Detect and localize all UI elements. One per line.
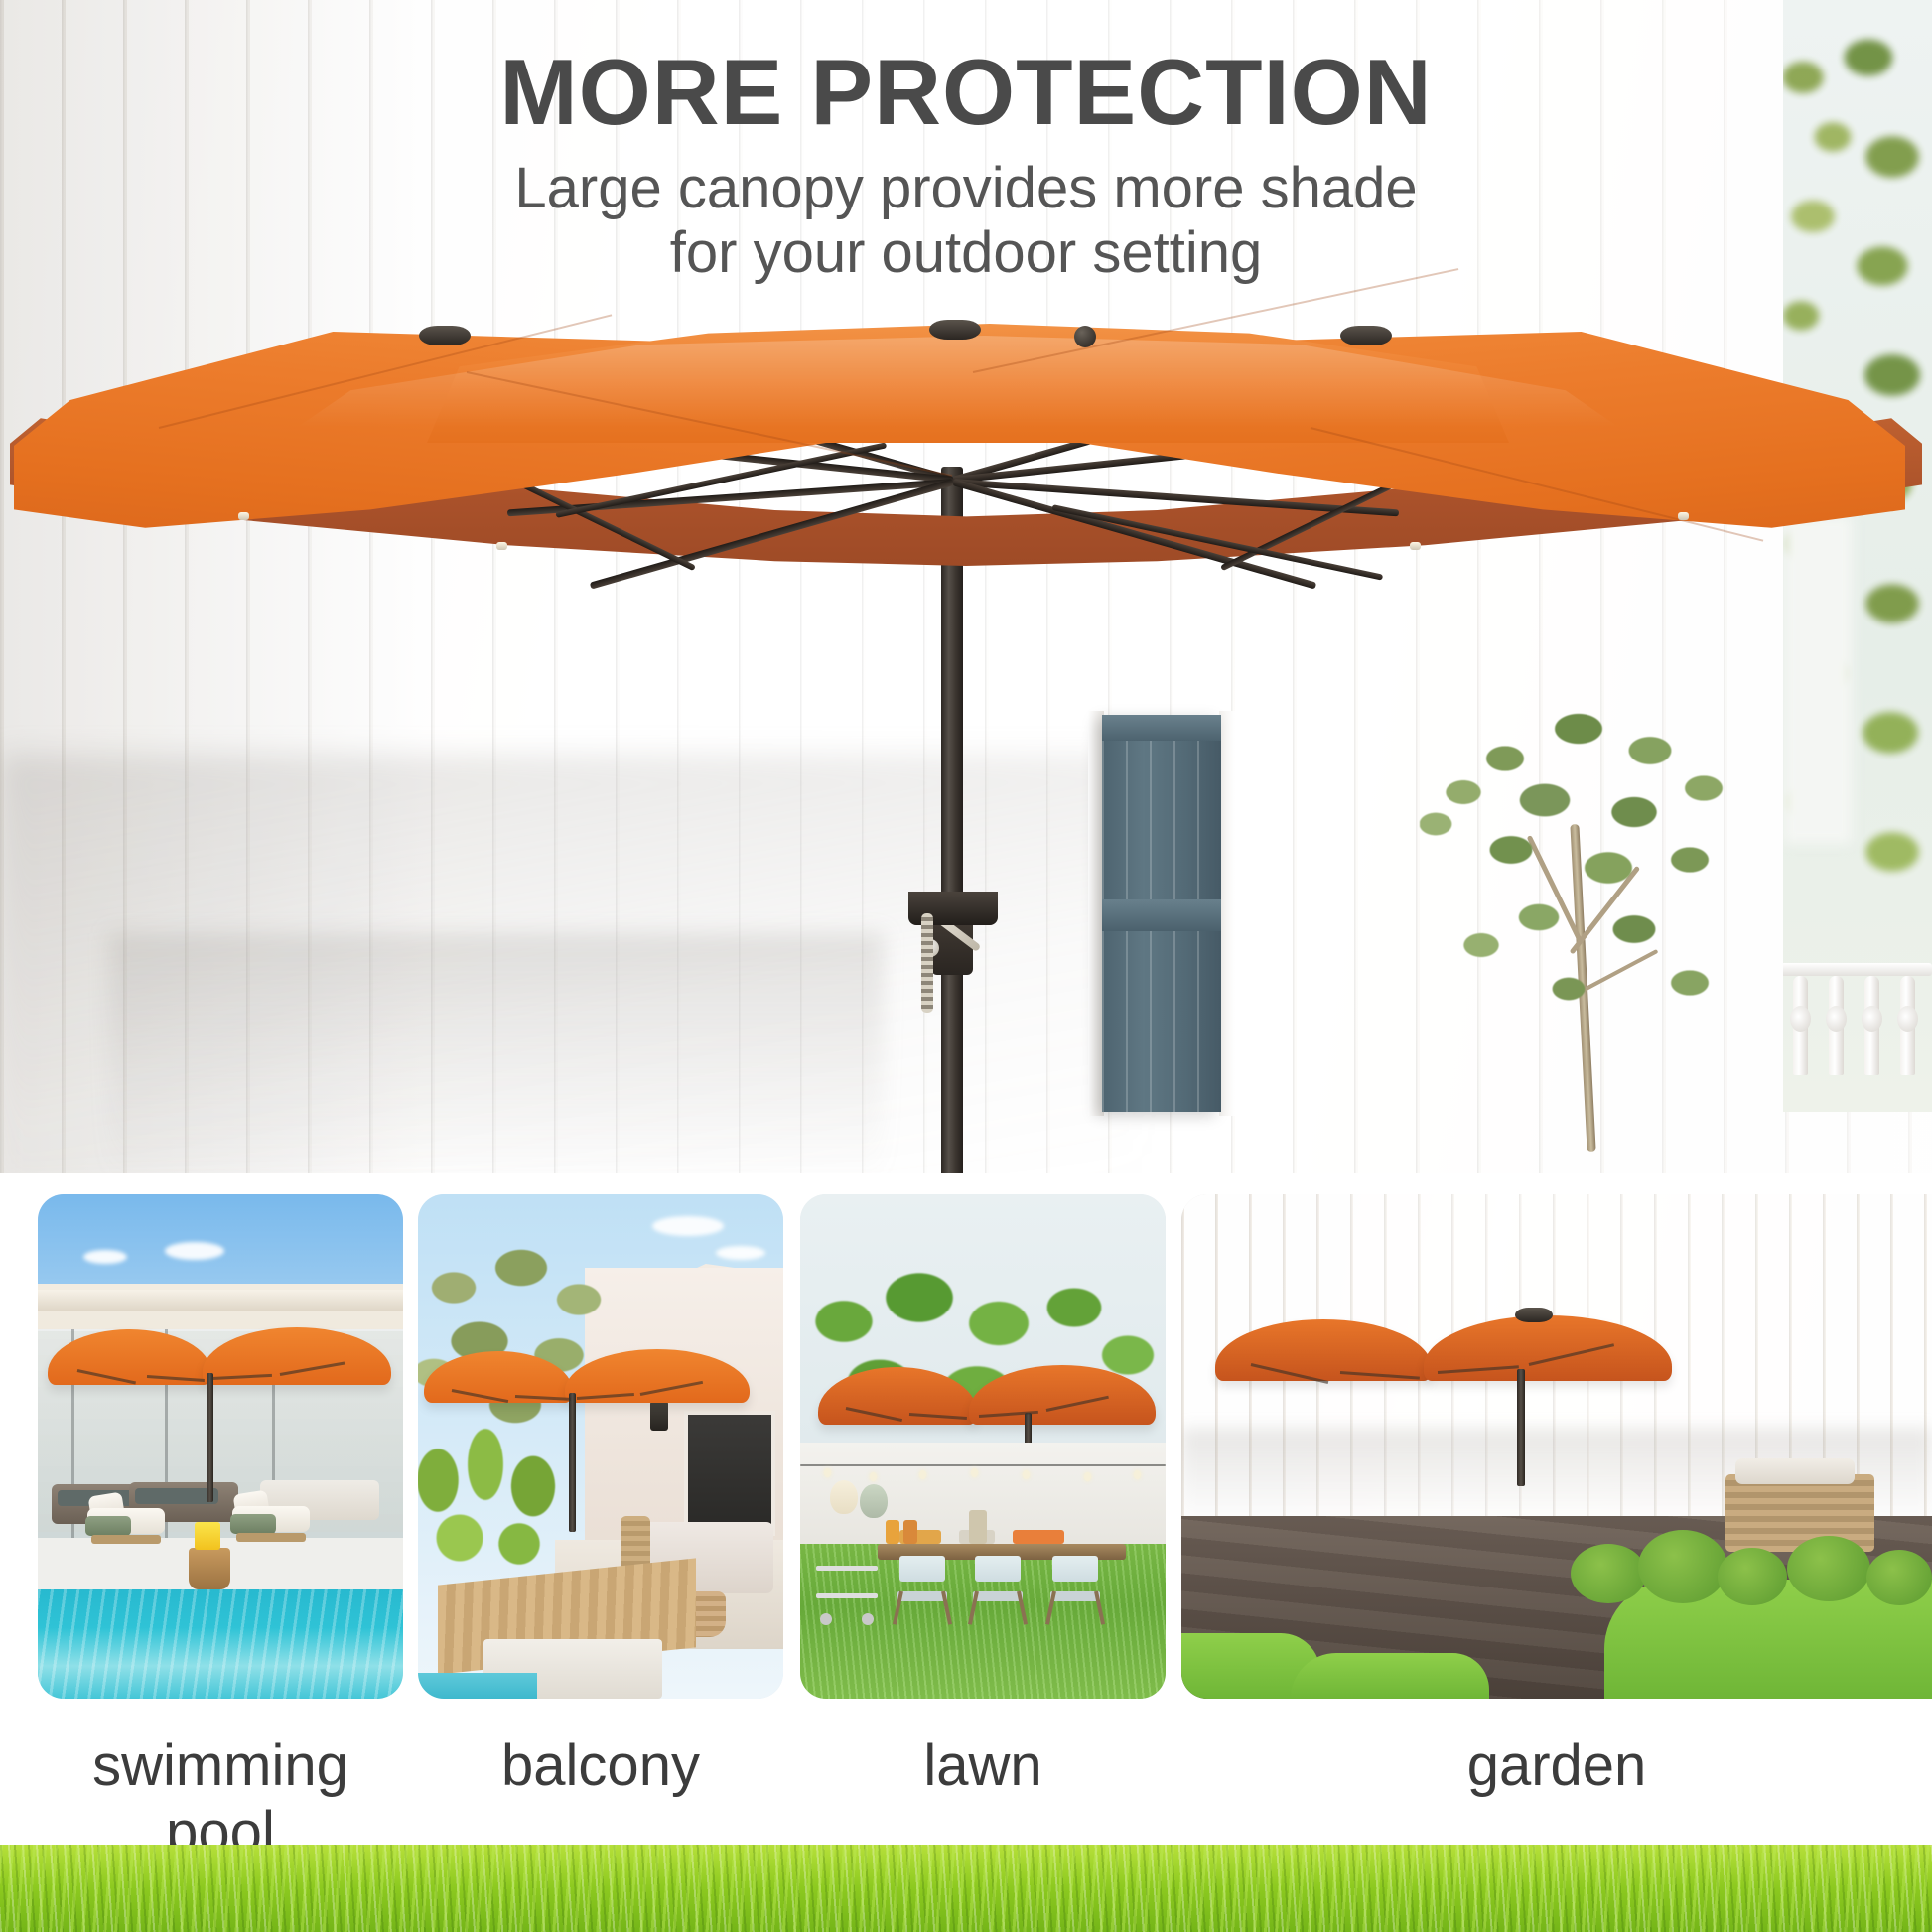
string-light-bulb <box>1084 1472 1091 1481</box>
cart-shelf <box>816 1566 878 1571</box>
footer-grass-band <box>0 1845 1932 1932</box>
shrub <box>1718 1548 1787 1605</box>
lounger-throw <box>230 1514 276 1534</box>
chair-back <box>899 1556 945 1582</box>
subtitle-line-2: for your outdoor setting <box>0 221 1932 286</box>
balloon <box>860 1484 888 1518</box>
cloud <box>165 1242 224 1260</box>
umbrella <box>0 318 1932 635</box>
string-light-bulb <box>824 1468 831 1477</box>
led-light <box>496 542 507 550</box>
swimming-pool-water <box>38 1589 403 1699</box>
canopy-finial <box>1074 326 1096 347</box>
page-title: MORE PROTECTION <box>0 46 1932 139</box>
gallery-labels: swimming pool balcony lawn garden <box>0 1732 1932 1842</box>
shrub <box>1787 1536 1870 1601</box>
shutter-top-rail <box>1102 715 1221 741</box>
string-light-bulb <box>870 1472 877 1481</box>
bar-cart <box>816 1560 878 1625</box>
cloud <box>652 1216 724 1236</box>
string-light-bulb <box>919 1470 926 1479</box>
product-marketing-image: MORE PROTECTION Large canopy provides mo… <box>0 0 1932 1932</box>
subtitle-line-1: Large canopy provides more shade <box>0 157 1932 221</box>
sofa-cushion <box>1735 1458 1855 1484</box>
lounger-legs <box>91 1535 161 1544</box>
canopy-vent-cap <box>1515 1308 1553 1322</box>
umbrella-pole <box>569 1393 576 1532</box>
tree-canopy <box>1420 685 1747 1013</box>
baluster <box>1793 976 1808 1075</box>
folding-chair <box>1048 1556 1102 1625</box>
balustrade-rail <box>1783 963 1932 976</box>
cart-wheel <box>862 1613 874 1625</box>
lounger-throw <box>85 1516 131 1536</box>
hub-spring <box>921 913 933 1013</box>
shrub <box>1638 1530 1727 1603</box>
canopy-vent-cap-center <box>929 320 981 340</box>
baluster <box>1829 976 1844 1075</box>
baluster <box>1864 976 1879 1075</box>
lounger <box>87 1488 165 1546</box>
label-balcony: balcony <box>418 1732 783 1799</box>
led-light <box>1678 512 1689 520</box>
wall-shadow-secondary <box>109 933 884 1173</box>
chair-back <box>1052 1556 1098 1582</box>
thumbnail-lawn[interactable] <box>800 1194 1166 1699</box>
headline-block: MORE PROTECTION Large canopy provides mo… <box>0 46 1932 286</box>
shutter-mid-rail <box>1102 899 1221 931</box>
string-light-bulb <box>1023 1470 1030 1479</box>
cloud <box>83 1250 127 1264</box>
bottle <box>886 1520 899 1544</box>
hedge-planting <box>418 1421 571 1570</box>
lounger-legs <box>236 1533 306 1542</box>
canopy-vent-cap-right <box>1340 326 1392 345</box>
label-lawn: lawn <box>800 1732 1166 1799</box>
thumbnail-garden[interactable] <box>1181 1194 1932 1699</box>
outdoor-sofa <box>1725 1474 1874 1552</box>
drinks <box>195 1522 220 1550</box>
pool-edge <box>418 1673 537 1699</box>
shrub <box>1866 1550 1932 1605</box>
chair-back <box>975 1556 1021 1582</box>
roof-eave <box>38 1290 403 1311</box>
bottle <box>903 1520 917 1544</box>
string-lights-wire <box>800 1464 1166 1466</box>
side-table <box>189 1548 230 1589</box>
balloon <box>830 1480 858 1514</box>
folding-chair <box>896 1556 949 1625</box>
chair-seat <box>897 1591 947 1601</box>
shutter-trim-right <box>1219 711 1235 1116</box>
canopy-vent-cap-left <box>419 326 471 345</box>
baluster <box>1900 976 1915 1075</box>
thumbnail-balcony[interactable] <box>418 1194 783 1699</box>
tree <box>1420 685 1747 1152</box>
fruit-bowl <box>1013 1530 1064 1544</box>
chair-seat <box>973 1591 1023 1601</box>
cart-wheel <box>820 1613 832 1625</box>
grass-patch <box>1291 1653 1489 1699</box>
window-shutter <box>1102 715 1221 1112</box>
folding-chair <box>971 1556 1025 1625</box>
string-light-bulb <box>1134 1470 1141 1479</box>
led-light <box>1410 542 1421 550</box>
lounger <box>232 1486 310 1544</box>
umbrella-pole <box>207 1373 213 1502</box>
label-garden: garden <box>1181 1732 1932 1799</box>
umbrella-pole <box>1517 1369 1525 1486</box>
cart-shelf <box>816 1593 878 1598</box>
use-case-gallery <box>0 1194 1932 1721</box>
chair-seat <box>1050 1591 1100 1601</box>
shrub <box>1571 1544 1646 1603</box>
vase <box>969 1510 987 1544</box>
patio-door <box>684 1411 775 1536</box>
balustrade <box>1783 963 1932 1082</box>
led-light <box>238 512 249 520</box>
string-light-bulb <box>971 1468 978 1477</box>
wall-lantern <box>650 1401 668 1431</box>
cloud <box>716 1246 765 1260</box>
canopy-top-surface <box>0 318 1932 566</box>
thumbnail-swimming-pool[interactable] <box>38 1194 403 1699</box>
